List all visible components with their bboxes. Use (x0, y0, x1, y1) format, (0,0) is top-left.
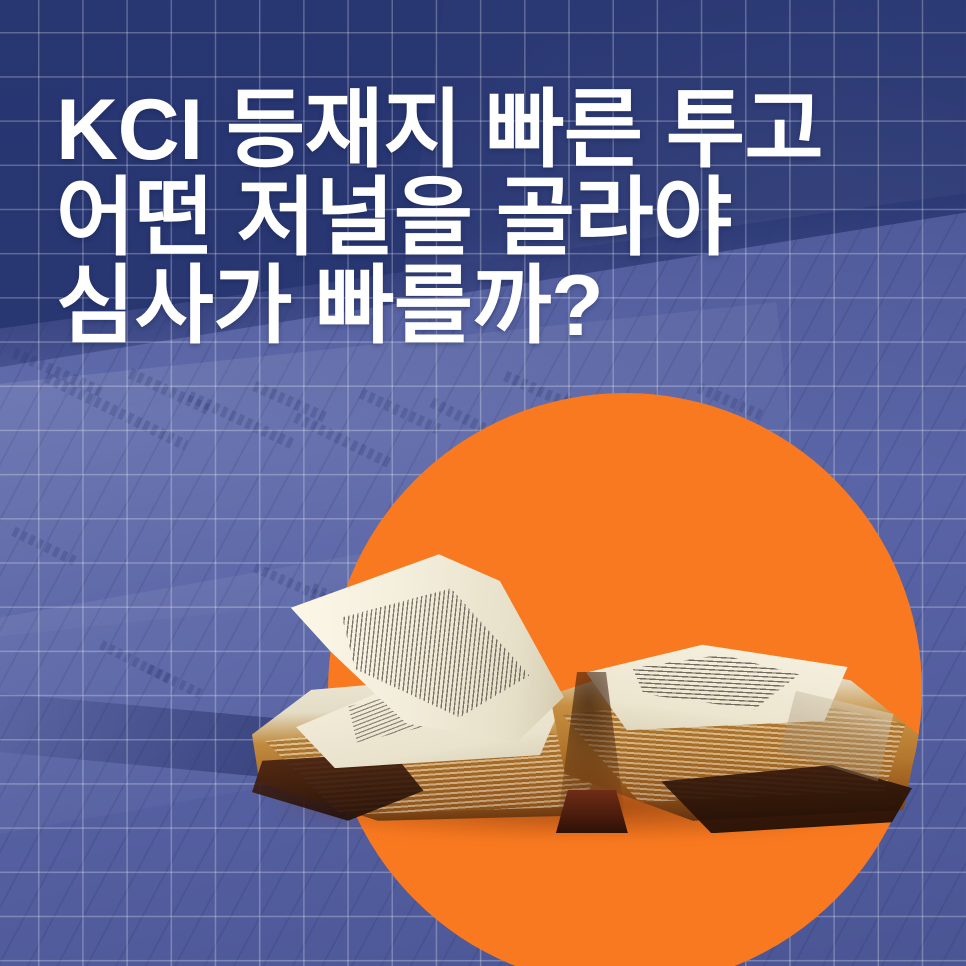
social-card: KCI 등재지 빠른 투고 어떤 저널을 골라야 심사가 빠를까? (0, 0, 966, 966)
headline-block: KCI 등재지 빠른 투고 어떤 저널을 골라야 심사가 빠를까? (56, 86, 936, 350)
headline-line-1: KCI 등재지 빠른 투고 (56, 86, 936, 174)
open-book-photo (252, 548, 912, 858)
headline-line-3: 심사가 빠를까? (56, 262, 936, 350)
headline-line-2: 어떤 저널을 골라야 (56, 174, 936, 262)
